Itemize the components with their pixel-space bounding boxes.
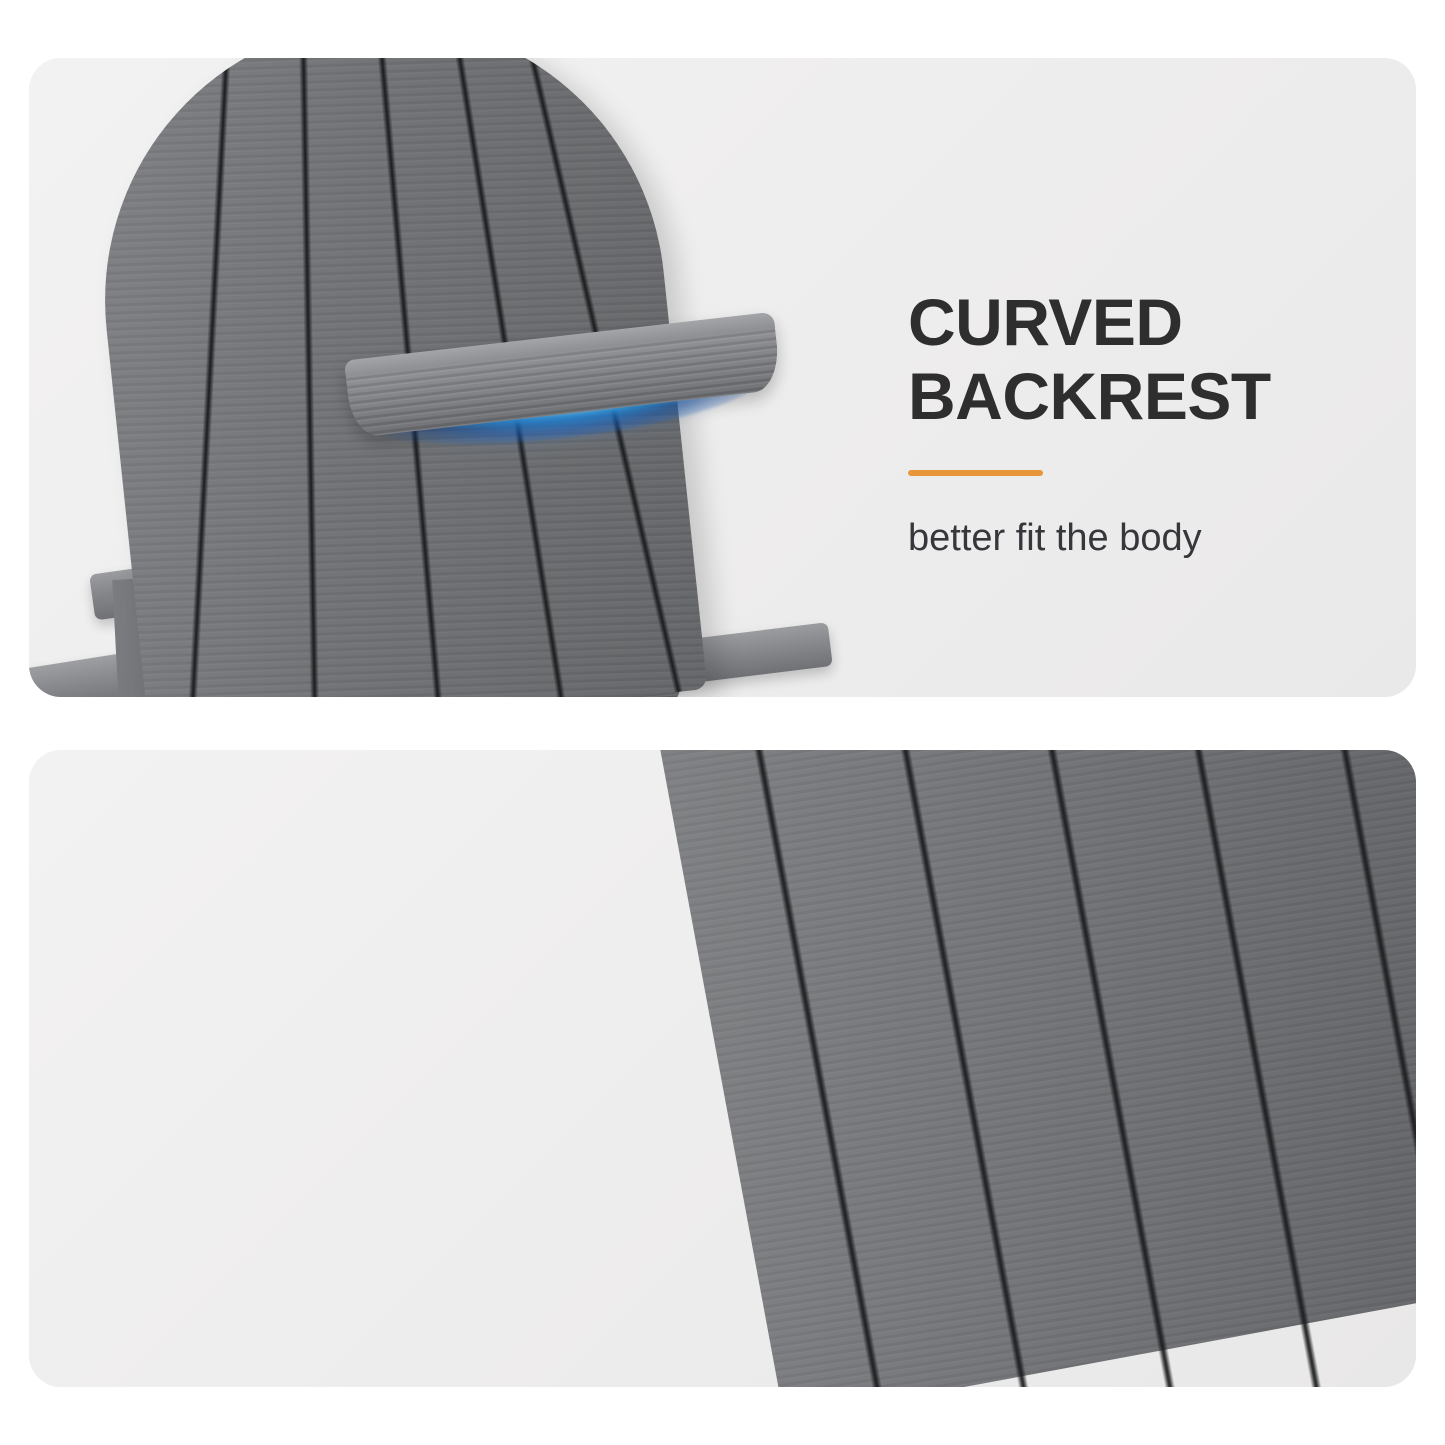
feature-headline: CURVED BACKREST xyxy=(908,286,1388,434)
feature-copy-curved-backrest: CURVED BACKREST better fit the body xyxy=(908,286,1388,561)
backrest-slat-seam xyxy=(1020,750,1194,1387)
feature-panel-wide-armrests: WIDE ARMRESTS for better arm relaxation xyxy=(29,750,1416,1387)
backrest-slat-seam xyxy=(1161,750,1335,1387)
backrest-slat-seam xyxy=(1303,750,1416,1387)
chair-backrest-panel xyxy=(657,750,1416,1387)
backrest-slat-seam xyxy=(878,750,1052,1387)
product-photo-wide-armrests xyxy=(29,750,1416,1387)
accent-divider xyxy=(908,470,1043,476)
feature-subtext: better fit the body xyxy=(908,516,1388,562)
infographic-canvas: CURVED BACKREST better fit the body xyxy=(0,0,1445,1445)
backrest-slat-seam xyxy=(737,750,911,1387)
feature-panel-curved-backrest: CURVED BACKREST better fit the body xyxy=(29,58,1416,697)
